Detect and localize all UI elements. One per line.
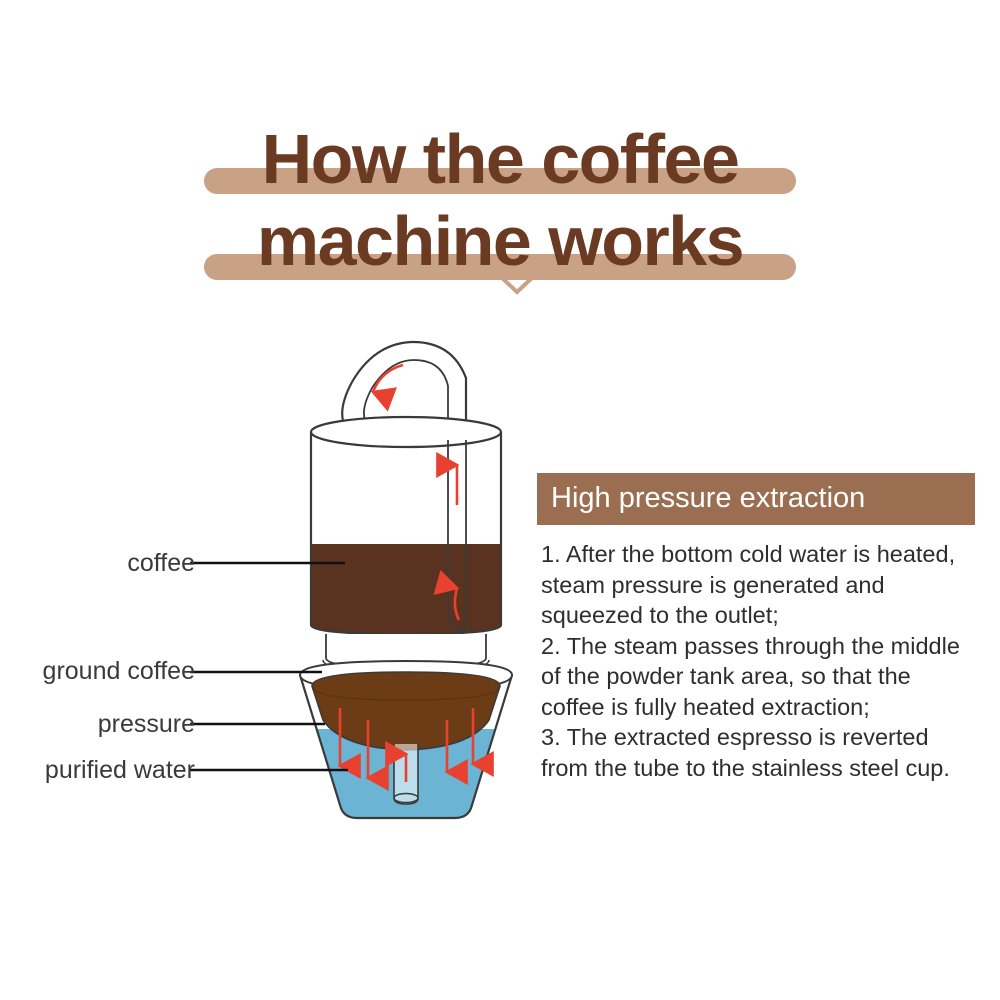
- label-ground-coffee: ground coffee: [43, 657, 195, 686]
- panel-body: 1. After the bottom cold water is heated…: [537, 539, 975, 783]
- panel-line: coffee is fully heated extraction;: [541, 692, 975, 723]
- center-pickup-tube: [394, 744, 418, 804]
- title-text-line-2: machine works: [257, 202, 743, 280]
- panel-line: 1. After the bottom cold water is heated…: [541, 539, 975, 570]
- cup-rim: [311, 417, 501, 447]
- upper-cup: [305, 417, 507, 639]
- panel-line: from the tube to the stainless steel cup…: [541, 753, 975, 784]
- title-line-2: machine works: [0, 200, 1000, 282]
- label-pressure: pressure: [98, 710, 195, 739]
- panel-line: 2. The steam passes through the middle: [541, 631, 975, 662]
- label-purified-water: purified water: [45, 756, 195, 785]
- info-panel: High pressure extraction 1. After the bo…: [537, 473, 975, 783]
- panel-line: squeezed to the outlet;: [541, 600, 975, 631]
- title-line-1: How the coffee: [0, 118, 1000, 200]
- title-text-line-1: How the coffee: [262, 120, 739, 198]
- page-title: How the coffee machine works: [0, 118, 1000, 282]
- coffee-level-fill: [305, 544, 507, 639]
- panel-line: steam pressure is generated and: [541, 570, 975, 601]
- label-coffee: coffee: [127, 549, 195, 578]
- panel-line: of the powder tank area, so that the: [541, 661, 975, 692]
- panel-line: 3. The extracted espresso is reverted: [541, 722, 975, 753]
- panel-header-title: High pressure extraction: [537, 473, 975, 525]
